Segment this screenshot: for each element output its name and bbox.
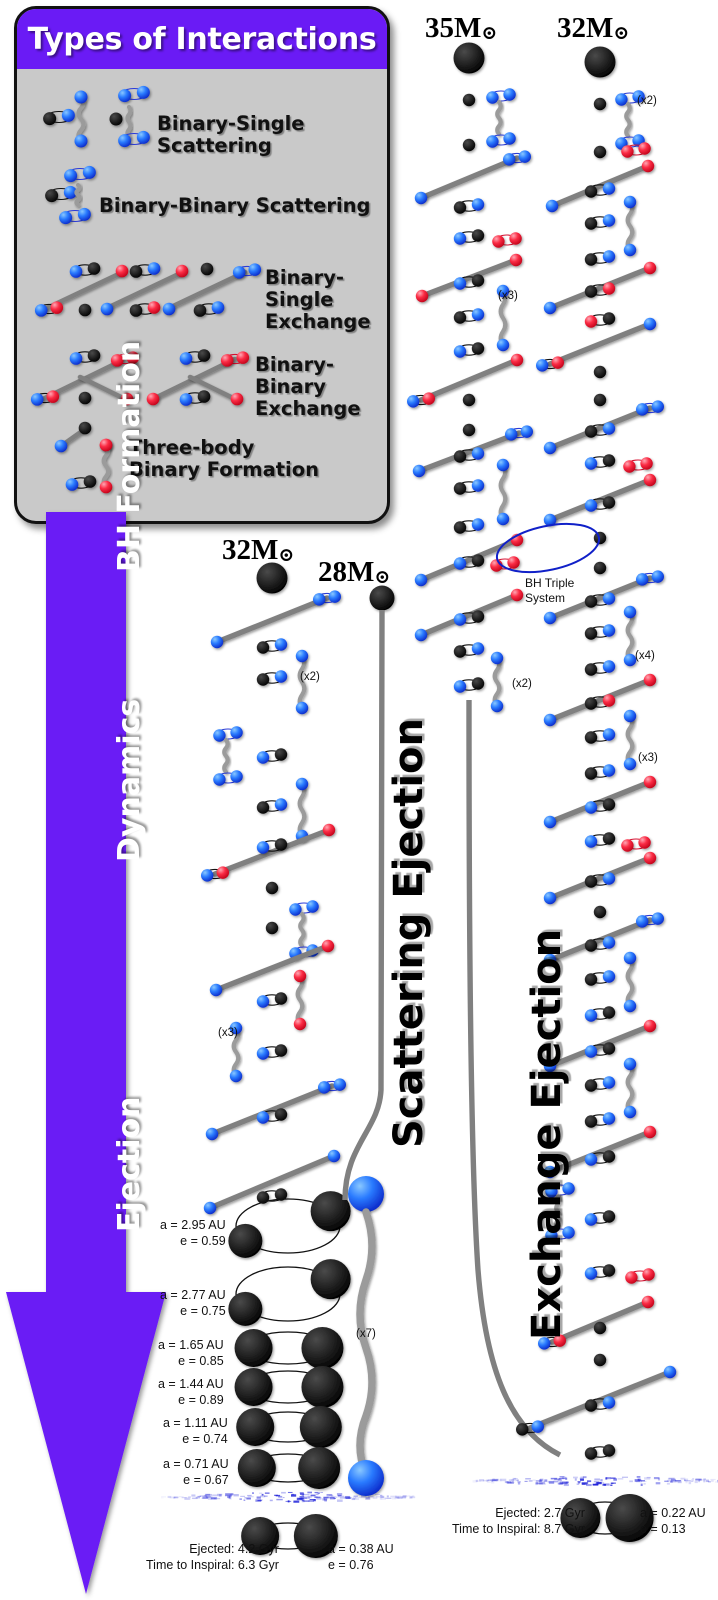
multiplicity-exchange-4: (x3) xyxy=(638,752,658,764)
blue-star-dot xyxy=(603,1112,615,1124)
ejected-time: Ejected: 4.2 Gyr xyxy=(189,1542,279,1556)
blue-star-dot xyxy=(624,710,636,722)
blue-star-dot xyxy=(415,574,427,586)
red-star-dot xyxy=(100,439,113,452)
blue-star-dot xyxy=(603,1396,615,1408)
blue-star-dot xyxy=(206,1128,218,1140)
black-hole-dot xyxy=(472,342,484,354)
orbit-label-scattering-4: a = 1.11 AUe = 0.74 xyxy=(163,1416,228,1447)
semimajor-axis: a = 2.77 AU xyxy=(160,1288,226,1302)
ejected-star-top xyxy=(348,1176,384,1212)
black-hole-dot xyxy=(454,450,466,462)
black-hole-dot xyxy=(88,349,101,362)
black-hole-dot xyxy=(257,641,269,653)
black-hole-dot xyxy=(585,627,597,639)
ejected-pair xyxy=(626,104,629,136)
orbit-label-scattering-3: a = 1.44 AUe = 0.89 xyxy=(158,1377,224,1408)
eccentricity: e = 0.13 xyxy=(640,1522,686,1536)
blue-star-dot xyxy=(413,465,425,477)
black-hole-dot xyxy=(194,304,207,317)
legend-item-2: Binary-Single Exchange xyxy=(265,267,387,332)
blue-star-dot xyxy=(275,638,287,650)
black-hole-dot xyxy=(198,390,211,403)
blue-star-dot xyxy=(137,131,150,144)
blue-star-dot xyxy=(603,422,615,434)
eccentricity: e = 0.89 xyxy=(178,1393,224,1407)
red-star-dot xyxy=(642,160,654,172)
black-hole-dot xyxy=(266,882,278,894)
blue-star-dot xyxy=(213,773,225,785)
black-hole-dot xyxy=(603,832,615,844)
red-star-dot xyxy=(642,1296,654,1308)
multiplicity-scattering-1: (x3) xyxy=(218,1027,238,1039)
black-hole-dot xyxy=(257,673,269,685)
black-hole-dot xyxy=(228,1224,262,1258)
blue-star-dot xyxy=(519,150,531,162)
black-hole-dot xyxy=(454,311,466,323)
black-hole-dot xyxy=(79,392,92,405)
blue-star-dot xyxy=(66,478,79,491)
eccentricity: e = 0.76 xyxy=(328,1558,374,1572)
ejected-pair xyxy=(624,952,636,1012)
red-star-dot xyxy=(644,474,656,486)
black-hole-dot xyxy=(603,312,615,324)
ejected-pair xyxy=(624,1058,636,1118)
blue-star-dot xyxy=(318,1081,330,1093)
black-hole-dot xyxy=(603,1210,615,1222)
black-hole-dot xyxy=(201,263,214,276)
black-hole-dot xyxy=(79,422,92,435)
black-hole-dot xyxy=(603,1150,615,1162)
blue-star-dot xyxy=(544,442,556,454)
blue-star-dot xyxy=(615,93,627,105)
blue-star-dot xyxy=(213,729,225,741)
blue-star-dot xyxy=(249,263,262,276)
blue-star-dot xyxy=(62,109,75,122)
black-hole-dot xyxy=(298,1447,340,1489)
ejected-pair xyxy=(497,459,509,525)
red-star-dot xyxy=(638,836,650,848)
spine-binary xyxy=(66,475,97,491)
black-hole-dot xyxy=(585,285,597,297)
semimajor-axis: a = 1.11 AU xyxy=(163,1416,228,1430)
black-hole-dot xyxy=(603,454,615,466)
black-hole-dot xyxy=(454,645,466,657)
black-hole-dot xyxy=(463,139,475,151)
final-times-exchange: Ejected: 2.7 GyrTime to Inspiral: 8.7 Gy… xyxy=(452,1506,585,1537)
mass-label-scattering-0: 32M⊙ xyxy=(222,534,294,567)
black-hole-dot xyxy=(88,262,101,275)
blue-star-dot xyxy=(230,770,242,782)
blue-star-dot xyxy=(118,134,131,147)
bh-binary-orbit xyxy=(228,1191,350,1258)
binary-pair xyxy=(492,232,522,247)
solar-mass-icon: ⊙ xyxy=(374,567,390,588)
ejected-pair xyxy=(497,102,500,134)
final-times-scattering: Ejected: 4.2 GyrTime to Inspiral: 6.3 Gy… xyxy=(146,1542,279,1573)
black-hole-dot xyxy=(585,697,597,709)
red-star-dot xyxy=(51,301,64,314)
black-hole-dot xyxy=(43,112,56,125)
legend-item-1: Binary-Binary Scattering xyxy=(99,195,371,217)
black-hole-dot xyxy=(275,992,287,1004)
mass-value: 32M xyxy=(222,534,278,566)
solar-mass-icon: ⊙ xyxy=(481,23,497,44)
black-hole-dot xyxy=(275,1044,287,1056)
blue-star-dot xyxy=(603,764,615,776)
blue-star-dot xyxy=(503,132,515,144)
blue-star-dot xyxy=(585,835,597,847)
binary-pair xyxy=(59,208,91,224)
black-hole-dot xyxy=(130,265,143,278)
blue-star-dot xyxy=(204,1202,216,1214)
blue-star-dot xyxy=(148,262,161,275)
black-hole-dot xyxy=(594,394,606,406)
black-hole-dot xyxy=(275,838,287,850)
binary-pair xyxy=(64,166,96,182)
blue-star-dot xyxy=(257,1111,269,1123)
semimajor-axis: a = 0.71 AU xyxy=(163,1457,229,1471)
blue-star-dot xyxy=(275,798,287,810)
mass-label-scattering-1: 28M⊙ xyxy=(318,556,390,589)
ejected-pair xyxy=(128,107,131,137)
black-hole-dot xyxy=(603,798,615,810)
red-star-dot xyxy=(511,354,523,366)
red-star-dot xyxy=(492,235,504,247)
blue-star-dot xyxy=(585,499,597,511)
binary-pair xyxy=(118,86,150,102)
red-star-dot xyxy=(237,351,250,364)
black-hole-dot xyxy=(236,1408,274,1446)
red-star-dot xyxy=(552,356,564,368)
companion-spine-28m xyxy=(345,610,382,1200)
semimajor-axis: a = 2.95 AU xyxy=(160,1218,226,1232)
red-star-dot xyxy=(644,674,656,686)
blue-star-dot xyxy=(585,457,597,469)
multiplicity-exchange-2: (x2) xyxy=(512,678,532,690)
blue-star-dot xyxy=(454,232,466,244)
black-hole-dot xyxy=(585,767,597,779)
diagram-canvas: Types of Interactions Binary-Single Scat… xyxy=(0,0,718,1600)
final-orbit-exchange: a = 0.22 AUe = 0.13 xyxy=(640,1506,706,1537)
black-hole-dot xyxy=(585,217,597,229)
blue-star-dot xyxy=(585,1153,597,1165)
blue-star-dot xyxy=(503,153,515,165)
blue-star-dot xyxy=(70,352,83,365)
black-hole-dot xyxy=(585,185,597,197)
blue-star-dot xyxy=(644,318,656,330)
black-hole-dot xyxy=(311,1259,351,1299)
semimajor-axis: a = 1.44 AU xyxy=(158,1377,224,1391)
black-hole-dot xyxy=(585,425,597,437)
black-hole-dot xyxy=(301,1366,343,1408)
red-star-dot xyxy=(100,481,113,494)
blue-star-dot xyxy=(585,1009,597,1021)
blue-star-dot xyxy=(472,642,484,654)
blue-star-dot xyxy=(306,900,318,912)
black-hole-dot xyxy=(594,98,606,110)
ejected-pair xyxy=(224,740,227,772)
mass-value: 28M xyxy=(318,556,374,588)
mass-value: 32M xyxy=(557,12,613,44)
blue-star-dot xyxy=(59,211,72,224)
blue-star-dot xyxy=(407,395,419,407)
blue-star-dot xyxy=(64,169,77,182)
black-hole-dot xyxy=(603,1042,615,1054)
black-hole-dot xyxy=(594,1322,606,1334)
accretion-disk-right xyxy=(473,1476,718,1486)
black-hole-dot xyxy=(84,475,97,488)
blue-star-dot xyxy=(544,816,556,828)
blue-star-dot xyxy=(329,590,341,602)
blue-star-dot xyxy=(603,592,615,604)
blue-star-dot xyxy=(585,1213,597,1225)
blue-star-dot xyxy=(652,400,664,412)
black-hole-dot xyxy=(585,939,597,951)
blue-star-dot xyxy=(180,352,193,365)
black-hole-dot xyxy=(594,1354,606,1366)
red-star-dot xyxy=(509,232,521,244)
blue-star-dot xyxy=(546,200,558,212)
binary-pair xyxy=(490,556,520,571)
blue-star-dot xyxy=(624,952,636,964)
blue-star-dot xyxy=(497,339,509,351)
black-hole-dot xyxy=(585,875,597,887)
blue-star-dot xyxy=(624,1058,636,1070)
blue-star-dot xyxy=(454,277,466,289)
ejected-time: Ejected: 2.7 Gyr xyxy=(495,1506,585,1520)
red-star-dot xyxy=(294,970,306,982)
blue-star-dot xyxy=(454,345,466,357)
black-hole-dot xyxy=(603,1264,615,1276)
eccentricity: e = 0.67 xyxy=(183,1473,229,1487)
blue-star-dot xyxy=(491,700,503,712)
orbit-label-scattering-2: a = 1.65 AUe = 0.85 xyxy=(158,1338,224,1369)
blue-star-dot xyxy=(624,196,636,208)
bh-binary-orbit xyxy=(228,1259,350,1326)
black-hole-dot xyxy=(110,113,123,126)
red-star-dot xyxy=(47,390,60,403)
eccentricity: e = 0.85 xyxy=(178,1354,224,1368)
binary-pair xyxy=(625,1268,655,1283)
solar-mass-icon: ⊙ xyxy=(613,23,629,44)
phase-stage-dynamics: Dynamics xyxy=(112,699,147,862)
blue-star-dot xyxy=(652,570,664,582)
binary-pair xyxy=(118,131,150,147)
blue-star-dot xyxy=(486,135,498,147)
eccentricity: e = 0.74 xyxy=(182,1432,228,1446)
black-hole-dot xyxy=(257,801,269,813)
black-hole-dot xyxy=(585,973,597,985)
ejected-pair xyxy=(300,914,303,946)
red-star-dot xyxy=(116,265,129,278)
phase-arrow-shape xyxy=(0,512,176,1600)
ejected-pair xyxy=(491,652,503,712)
black-hole-dot xyxy=(603,1444,615,1456)
blue-star-dot xyxy=(211,636,223,648)
ejected-pair xyxy=(76,185,79,205)
blue-star-dot xyxy=(544,612,556,624)
binary-pair xyxy=(45,186,77,202)
blue-star-dot xyxy=(652,912,664,924)
black-hole-dot xyxy=(275,1108,287,1120)
blue-star-dot xyxy=(275,670,287,682)
blue-star-dot xyxy=(257,751,269,763)
phase-stage-ejection: Ejection xyxy=(112,1097,147,1233)
eccentricity: e = 0.59 xyxy=(180,1234,226,1248)
red-star-dot xyxy=(623,460,635,472)
mass-label-exchange-0: 35M⊙ xyxy=(425,12,497,45)
red-star-dot xyxy=(603,694,615,706)
binary-pair xyxy=(486,132,516,147)
black-hole-dot xyxy=(585,1399,597,1411)
blue-star-dot xyxy=(603,214,615,226)
mass-label-exchange-1: 32M⊙ xyxy=(557,12,629,45)
blue-star-dot xyxy=(257,1047,269,1059)
solar-mass-icon: ⊙ xyxy=(278,545,294,566)
blue-star-dot xyxy=(137,86,150,99)
blue-star-dot xyxy=(585,1045,597,1057)
red-star-dot xyxy=(322,940,334,952)
red-star-dot xyxy=(510,254,522,266)
blue-star-dot xyxy=(296,778,308,790)
blue-star-dot xyxy=(636,573,648,585)
black-hole-dot xyxy=(45,189,58,202)
ejected-pair xyxy=(296,778,308,842)
semimajor-axis: a = 0.38 AU xyxy=(328,1542,394,1556)
blue-star-dot xyxy=(544,714,556,726)
blue-star-dot xyxy=(257,841,269,853)
red-star-dot xyxy=(644,776,656,788)
black-hole-dot xyxy=(228,1292,262,1326)
blue-star-dot xyxy=(118,89,131,102)
black-hole-dot xyxy=(454,521,466,533)
blue-star-dot xyxy=(491,652,503,664)
blue-star-dot xyxy=(636,915,648,927)
multiplicity-scattering-0: (x2) xyxy=(300,671,320,683)
black-hole-dot xyxy=(454,482,466,494)
bh-binary-orbit xyxy=(236,1406,342,1448)
blue-star-dot xyxy=(289,903,301,915)
blue-star-dot xyxy=(497,459,509,471)
blue-star-dot xyxy=(624,1106,636,1118)
ejected-pair xyxy=(75,91,88,148)
black-hole-dot xyxy=(238,1449,276,1487)
blue-star-dot xyxy=(313,593,325,605)
legend-item-3: Binary-Binary Exchange xyxy=(255,354,387,419)
red-star-dot xyxy=(147,393,160,406)
black-hole-dot xyxy=(463,94,475,106)
ejected-pair xyxy=(100,439,113,494)
blue-star-dot xyxy=(544,302,556,314)
eccentricity: e = 0.75 xyxy=(180,1304,226,1318)
bh-binary-orbit xyxy=(238,1447,340,1489)
legend-item-4: Three-body Binary Formation xyxy=(129,437,319,481)
orbit-label-scattering-0: a = 2.95 AUe = 0.59 xyxy=(160,1218,226,1249)
black-hole-dot xyxy=(370,586,395,611)
blue-star-dot xyxy=(55,440,68,453)
binary-pair xyxy=(621,836,651,851)
blue-star-dot xyxy=(624,758,636,770)
red-star-dot xyxy=(176,265,189,278)
multiplicity-exchange-3: (x4) xyxy=(635,650,655,662)
blue-star-dot xyxy=(472,308,484,320)
mass-value: 35M xyxy=(425,12,481,44)
blue-star-dot xyxy=(210,984,222,996)
blue-star-dot xyxy=(585,1267,597,1279)
blue-star-dot xyxy=(334,1078,346,1090)
red-star-dot xyxy=(603,282,615,294)
blue-star-dot xyxy=(31,393,44,406)
red-star-dot xyxy=(507,556,519,568)
blue-star-dot xyxy=(70,265,83,278)
black-hole-dot xyxy=(585,253,597,265)
blue-star-dot xyxy=(163,303,176,316)
red-star-dot xyxy=(217,866,229,878)
red-star-dot xyxy=(625,1271,637,1283)
inspiral-time: Time to Inspiral: 8.7 Gyr xyxy=(452,1522,585,1536)
blue-star-dot xyxy=(603,936,615,948)
blue-star-dot xyxy=(75,91,88,104)
black-hole-dot xyxy=(235,1368,273,1406)
blue-star-dot xyxy=(201,869,213,881)
orbit-label-scattering-1: a = 2.77 AUe = 0.75 xyxy=(160,1288,226,1319)
blue-star-dot xyxy=(603,660,615,672)
blue-star-dot xyxy=(454,680,466,692)
blue-star-dot xyxy=(296,702,308,714)
blue-star-dot xyxy=(472,447,484,459)
black-hole-dot xyxy=(235,1329,273,1367)
blue-star-dot xyxy=(521,425,533,437)
red-star-dot xyxy=(644,1126,656,1138)
blue-star-dot xyxy=(603,624,615,636)
black-hole-dot xyxy=(585,663,597,675)
red-star-dot xyxy=(644,262,656,274)
blue-star-dot xyxy=(415,629,427,641)
blue-star-dot xyxy=(544,892,556,904)
ejection-squiggle-x7 xyxy=(360,1212,372,1474)
blue-star-dot xyxy=(497,513,509,525)
black-hole-dot xyxy=(463,424,475,436)
red-star-dot xyxy=(416,290,428,302)
track-title-scattering: Scattering Ejection xyxy=(386,718,432,1148)
blue-star-dot xyxy=(624,244,636,256)
blue-star-dot xyxy=(472,198,484,210)
red-star-dot xyxy=(585,315,597,327)
black-hole-dot xyxy=(79,304,92,317)
ejected-pair xyxy=(294,970,306,1030)
blue-star-dot xyxy=(472,518,484,530)
blue-star-dot xyxy=(233,266,246,279)
inspiral-time: Time to Inspiral: 6.3 Gyr xyxy=(146,1558,279,1572)
black-hole-dot xyxy=(472,554,484,566)
red-star-dot xyxy=(640,457,652,469)
binary-pair xyxy=(623,457,653,472)
black-hole-dot xyxy=(603,1006,615,1018)
blue-star-dot xyxy=(486,91,498,103)
red-star-dot xyxy=(323,824,335,836)
red-star-dot xyxy=(638,142,650,154)
black-hole-dot xyxy=(301,1327,343,1369)
black-hole-dot xyxy=(594,146,606,158)
black-hole-dot xyxy=(472,229,484,241)
red-star-dot xyxy=(644,1020,656,1032)
orbit-label-scattering-5: a = 0.71 AUe = 0.67 xyxy=(163,1457,229,1488)
blue-star-dot xyxy=(603,250,615,262)
accretion-disk-middle xyxy=(161,1492,415,1503)
blue-star-dot xyxy=(503,88,515,100)
blue-star-dot xyxy=(624,606,636,618)
